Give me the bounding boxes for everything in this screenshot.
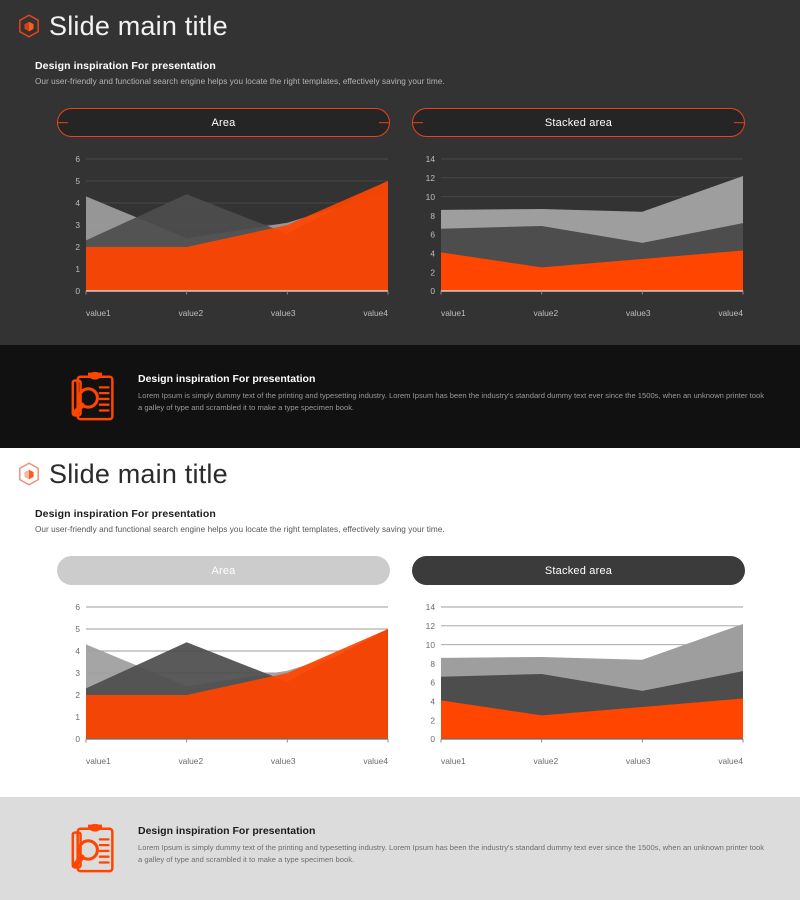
- svg-text:1: 1: [75, 265, 80, 275]
- svg-text:3: 3: [75, 221, 80, 231]
- x-tick-label: value1: [441, 756, 466, 766]
- x-tick-label: value3: [626, 308, 651, 318]
- svg-text:2: 2: [430, 268, 435, 278]
- svg-text:6: 6: [75, 603, 80, 613]
- x-tick-label: value3: [626, 756, 651, 766]
- x-tick-label: value1: [86, 756, 111, 766]
- x-tick-label: value2: [533, 756, 558, 766]
- banner-body: Design inspiration For presentation Lore…: [138, 819, 770, 866]
- svg-text:2: 2: [430, 716, 435, 726]
- svg-text:4: 4: [75, 647, 80, 657]
- svg-text:10: 10: [426, 192, 436, 202]
- chart-tab-label: Area: [211, 117, 235, 129]
- svg-text:6: 6: [430, 230, 435, 240]
- subhead-text: Our user-friendly and functional search …: [35, 77, 800, 86]
- svg-text:4: 4: [75, 199, 80, 209]
- chart-tab-stacked-light[interactable]: Stacked area: [412, 556, 745, 585]
- clipboard-search-icon: [68, 821, 122, 877]
- svg-text:1: 1: [75, 713, 80, 723]
- plot-stacked-dark: 02468101214: [412, 153, 745, 305]
- stacked-area-chart-svg: 02468101214: [412, 153, 745, 305]
- plot-stacked-light: 02468101214: [412, 601, 745, 753]
- banner-title: Design inspiration For presentation: [138, 373, 770, 385]
- page-title: Slide main title: [49, 12, 228, 40]
- svg-text:5: 5: [75, 177, 80, 187]
- page-title: Slide main title: [49, 460, 228, 488]
- svg-text:2: 2: [75, 691, 80, 701]
- area-chart-svg: 0123456: [57, 153, 390, 305]
- slide-light: Slide main title Design inspiration For …: [0, 448, 800, 900]
- banner-title: Design inspiration For presentation: [138, 825, 770, 837]
- x-axis-labels: value1 value2 value3 value4: [57, 308, 390, 318]
- chart-tab-label: Area: [211, 565, 235, 577]
- x-tick-label: value4: [718, 756, 743, 766]
- subhead-title: Design inspiration For presentation: [35, 60, 800, 72]
- clipboard-search-icon: [68, 369, 122, 425]
- charts-row-dark: Area 0123456 value1 value2 value3 value4…: [0, 86, 800, 318]
- hexagon-cube-icon: [18, 14, 40, 38]
- svg-text:8: 8: [430, 659, 435, 669]
- svg-text:8: 8: [430, 211, 435, 221]
- chart-tab-area-dark[interactable]: Area: [57, 108, 390, 137]
- slide-subhead: Design inspiration For presentation Our …: [0, 40, 800, 86]
- chart-card-stacked-dark: Stacked area 02468101214 value1 value2 v…: [412, 108, 745, 318]
- svg-text:2: 2: [75, 243, 80, 253]
- svg-text:14: 14: [426, 603, 436, 613]
- x-tick-label: value2: [533, 308, 558, 318]
- chart-tab-stacked-dark[interactable]: Stacked area: [412, 108, 745, 137]
- svg-text:6: 6: [430, 678, 435, 688]
- subhead-text: Our user-friendly and functional search …: [35, 525, 800, 534]
- svg-text:6: 6: [75, 155, 80, 165]
- area-chart-svg: 0123456: [57, 601, 390, 753]
- svg-text:0: 0: [75, 287, 80, 297]
- svg-text:4: 4: [430, 697, 435, 707]
- subhead-title: Design inspiration For presentation: [35, 508, 800, 520]
- chart-tab-area-light[interactable]: Area: [57, 556, 390, 585]
- x-tick-label: value4: [718, 308, 743, 318]
- banner-text: Lorem Ipsum is simply dummy text of the …: [138, 842, 770, 866]
- chart-card-area-light: Area 0123456 value1 value2 value3 value4: [57, 556, 390, 766]
- slide-dark: Slide main title Design inspiration For …: [0, 0, 800, 448]
- slide-subhead: Design inspiration For presentation Our …: [0, 488, 800, 534]
- charts-row-light: Area 0123456 value1 value2 value3 value4…: [0, 534, 800, 766]
- hexagon-cube-icon: [18, 462, 40, 486]
- svg-text:0: 0: [430, 287, 435, 297]
- plot-area-dark: 0123456: [57, 153, 390, 305]
- x-tick-label: value2: [178, 308, 203, 318]
- info-banner-light: Design inspiration For presentation Lore…: [0, 797, 800, 900]
- chart-tab-label: Stacked area: [545, 117, 612, 129]
- svg-text:12: 12: [426, 621, 436, 631]
- slide-title-row: Slide main title: [0, 0, 800, 40]
- x-tick-label: value4: [363, 308, 388, 318]
- banner-body: Design inspiration For presentation Lore…: [138, 367, 770, 414]
- x-tick-label: value1: [86, 308, 111, 318]
- svg-text:3: 3: [75, 669, 80, 679]
- svg-text:0: 0: [430, 735, 435, 745]
- svg-text:4: 4: [430, 249, 435, 259]
- x-axis-labels: value1 value2 value3 value4: [412, 756, 745, 766]
- x-tick-label: value4: [363, 756, 388, 766]
- x-tick-label: value1: [441, 308, 466, 318]
- svg-text:12: 12: [426, 173, 436, 183]
- svg-text:5: 5: [75, 625, 80, 635]
- x-axis-labels: value1 value2 value3 value4: [412, 308, 745, 318]
- x-tick-label: value3: [271, 308, 296, 318]
- slide-deck-page: Slide main title Design inspiration For …: [0, 0, 800, 900]
- chart-card-area-dark: Area 0123456 value1 value2 value3 value4: [57, 108, 390, 318]
- svg-text:0: 0: [75, 735, 80, 745]
- info-banner-dark: Design inspiration For presentation Lore…: [0, 345, 800, 448]
- svg-text:14: 14: [426, 155, 436, 165]
- plot-area-light: 0123456: [57, 601, 390, 753]
- stacked-area-chart-svg: 02468101214: [412, 601, 745, 753]
- x-tick-label: value3: [271, 756, 296, 766]
- svg-text:10: 10: [426, 640, 436, 650]
- banner-text: Lorem Ipsum is simply dummy text of the …: [138, 390, 770, 414]
- x-tick-label: value2: [178, 756, 203, 766]
- chart-tab-label: Stacked area: [545, 565, 612, 577]
- slide-title-row: Slide main title: [0, 448, 800, 488]
- x-axis-labels: value1 value2 value3 value4: [57, 756, 390, 766]
- chart-card-stacked-light: Stacked area 02468101214 value1 value2 v…: [412, 556, 745, 766]
